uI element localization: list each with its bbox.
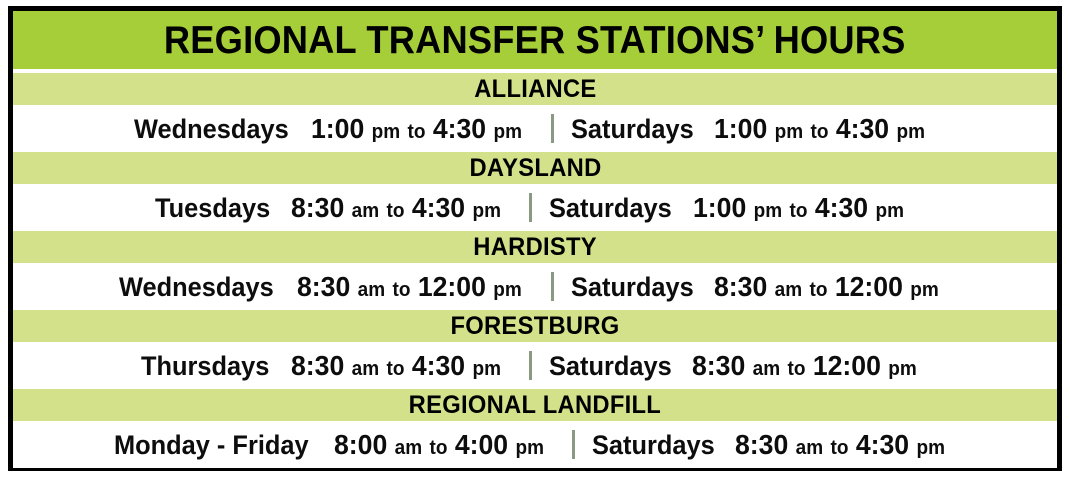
station-name: HARDISTY <box>473 235 597 260</box>
station-name: FORESTBURG <box>450 314 619 339</box>
schedule-days: Saturdays <box>571 274 694 301</box>
schedule-days: Monday - Friday <box>114 432 309 459</box>
schedule-hours: 8:30 am to 4:30 pm <box>291 194 501 222</box>
station-block: ALLIANCEWednesdays1:00 pm to 4:30 pmSatu… <box>13 73 1057 152</box>
station-name-band: HARDISTY <box>13 231 1057 263</box>
schedule-entry: Saturdays8:30 am to 12:00 pm <box>571 273 951 301</box>
schedule-entry: Monday - Friday8:00 am to 4:00 pm <box>114 431 555 459</box>
station-block: REGIONAL LANDFILLMonday - Friday8:00 am … <box>13 389 1057 468</box>
station-name-band: DAYSLAND <box>13 152 1057 184</box>
schedule-entry: Saturdays8:30 am to 4:30 pm <box>592 431 957 459</box>
schedule-hours: 8:00 am to 4:00 pm <box>334 431 544 459</box>
schedule-entry: Wednesdays1:00 pm to 4:30 pm <box>134 115 534 143</box>
regional-transfer-station-hours-card: REGIONAL TRANSFER STATIONS’ HOURS ALLIAN… <box>8 6 1062 471</box>
schedule-divider <box>551 272 554 301</box>
station-name: DAYSLAND <box>469 156 601 181</box>
schedule-days: Saturdays <box>549 353 672 380</box>
station-block: FORESTBURGThursdays8:30 am to 4:30 pmSat… <box>13 310 1057 389</box>
schedule-days: Saturdays <box>549 195 672 222</box>
schedule-hours: 8:30 am to 12:00 pm <box>297 273 522 301</box>
schedule-hours: 1:00 pm to 4:30 pm <box>693 194 904 222</box>
schedule-days: Saturdays <box>592 432 715 459</box>
station-list: ALLIANCEWednesdays1:00 pm to 4:30 pmSatu… <box>13 73 1057 468</box>
page-title: REGIONAL TRANSFER STATIONS’ HOURS <box>164 21 906 60</box>
schedule-entry: Saturdays1:00 pm to 4:30 pm <box>549 194 915 222</box>
schedule-hours: 8:30 am to 12:00 pm <box>714 273 939 301</box>
station-name-band: ALLIANCE <box>13 73 1057 105</box>
schedule-hours: 1:00 pm to 4:30 pm <box>714 115 925 143</box>
station-hours-row: Thursdays8:30 am to 4:30 pmSaturdays8:30… <box>13 342 1057 389</box>
schedule-divider <box>572 430 575 459</box>
schedule-hours: 8:30 am to 4:30 pm <box>735 431 945 459</box>
schedule-entry: Wednesdays8:30 am to 12:00 pm <box>119 273 533 301</box>
station-hours-inner: Monday - Friday8:00 am to 4:00 pmSaturda… <box>114 430 957 459</box>
station-hours-inner: Thursdays8:30 am to 4:30 pmSaturdays8:30… <box>141 351 929 380</box>
station-name-band: REGIONAL LANDFILL <box>13 389 1057 421</box>
schedule-days: Thursdays <box>141 353 269 380</box>
station-name: REGIONAL LANDFILL <box>409 393 661 418</box>
schedule-hours: 1:00 pm to 4:30 pm <box>311 115 522 143</box>
station-hours-inner: Wednesdays1:00 pm to 4:30 pmSaturdays1:0… <box>134 114 936 143</box>
schedule-divider <box>529 351 532 380</box>
station-block: HARDISTYWednesdays8:30 am to 12:00 pmSat… <box>13 231 1057 310</box>
schedule-entry: Tuesdays8:30 am to 4:30 pm <box>155 194 512 222</box>
schedule-days: Saturdays <box>571 116 694 143</box>
station-hours-row: Wednesdays1:00 pm to 4:30 pmSaturdays1:0… <box>13 105 1057 152</box>
schedule-days: Tuesdays <box>155 195 270 222</box>
schedule-divider <box>551 114 554 143</box>
schedule-hours: 8:30 am to 12:00 pm <box>692 352 917 380</box>
station-hours-row: Tuesdays8:30 am to 4:30 pmSaturdays1:00 … <box>13 184 1057 231</box>
station-hours-inner: Wednesdays8:30 am to 12:00 pmSaturdays8:… <box>119 272 950 301</box>
schedule-days: Wednesdays <box>119 274 274 301</box>
schedule-hours: 8:30 am to 4:30 pm <box>291 352 501 380</box>
station-name: ALLIANCE <box>474 77 596 102</box>
station-block: DAYSLANDTuesdays8:30 am to 4:30 pmSaturd… <box>13 152 1057 231</box>
schedule-divider <box>529 193 532 222</box>
schedule-days: Wednesdays <box>134 116 289 143</box>
station-hours-inner: Tuesdays8:30 am to 4:30 pmSaturdays1:00 … <box>155 193 914 222</box>
schedule-entry: Saturdays1:00 pm to 4:30 pm <box>571 115 937 143</box>
station-hours-row: Monday - Friday8:00 am to 4:00 pmSaturda… <box>13 421 1057 468</box>
schedule-entry: Saturdays8:30 am to 12:00 pm <box>549 352 929 380</box>
card-title-bar: REGIONAL TRANSFER STATIONS’ HOURS <box>13 11 1057 69</box>
station-hours-row: Wednesdays8:30 am to 12:00 pmSaturdays8:… <box>13 263 1057 310</box>
station-name-band: FORESTBURG <box>13 310 1057 342</box>
schedule-entry: Thursdays8:30 am to 4:30 pm <box>141 352 512 380</box>
